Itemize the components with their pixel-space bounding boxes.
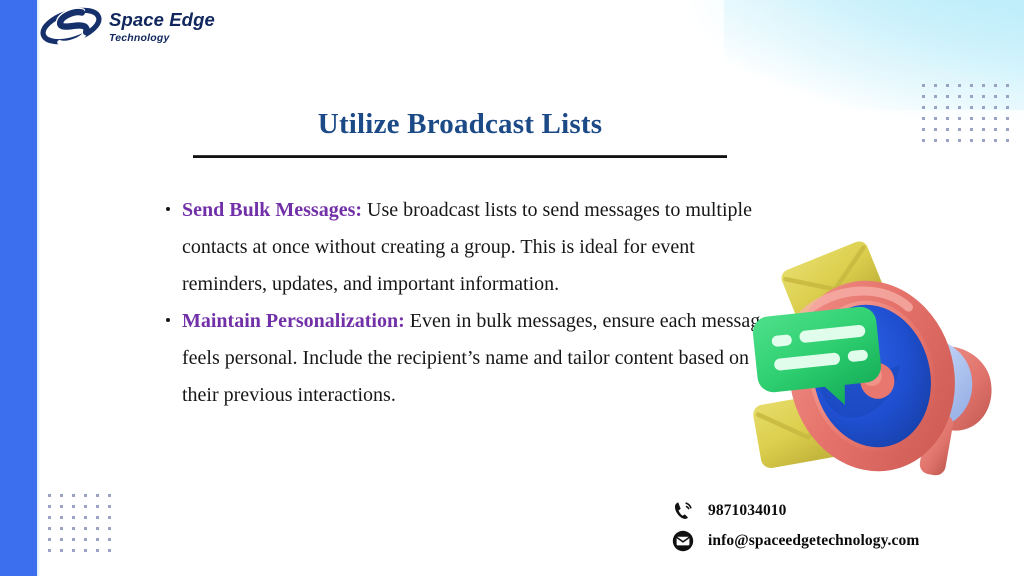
list-item-lead: Maintain Personalization:: [182, 310, 405, 332]
swoosh-s-logo-icon: [40, 6, 102, 46]
list-item: Send Bulk Messages: Use broadcast lists …: [164, 192, 784, 303]
phone-icon: [672, 500, 694, 522]
contact-email-address: info@spaceedgetechnology.com: [708, 532, 919, 550]
brand-name: Space Edge: [109, 11, 215, 30]
contact-email-row[interactable]: info@spaceedgetechnology.com: [672, 530, 919, 552]
list-item: Maintain Personalization: Even in bulk m…: [164, 303, 784, 414]
dot-grid-icon-topright: [922, 84, 1018, 150]
contact-info: 9871034010 info@spaceedgetechnology.com: [672, 500, 919, 552]
left-accent-bar: [0, 0, 37, 576]
page-title: Utilize Broadcast Lists: [193, 108, 727, 141]
dot-grid-icon-bottomleft: [48, 494, 120, 560]
megaphone-illustration: [752, 236, 1017, 481]
brand-subtitle: Technology: [109, 33, 215, 44]
slide-canvas: Space Edge Technology Utilize Broadcast …: [0, 0, 1024, 576]
brand-logo-text: Space Edge Technology: [109, 9, 215, 43]
bullet-dot-icon: [166, 207, 170, 211]
bullet-dot-icon: [166, 318, 170, 322]
left-accent-bar-edge: [37, 0, 40, 576]
brand-logo: Space Edge Technology: [40, 4, 240, 48]
title-divider: [193, 155, 727, 158]
bullet-list: Send Bulk Messages: Use broadcast lists …: [164, 192, 784, 414]
envelope-icon: [672, 530, 694, 552]
contact-phone-number: 9871034010: [708, 502, 787, 520]
contact-phone-row[interactable]: 9871034010: [672, 500, 919, 522]
list-item-lead: Send Bulk Messages:: [182, 199, 362, 221]
